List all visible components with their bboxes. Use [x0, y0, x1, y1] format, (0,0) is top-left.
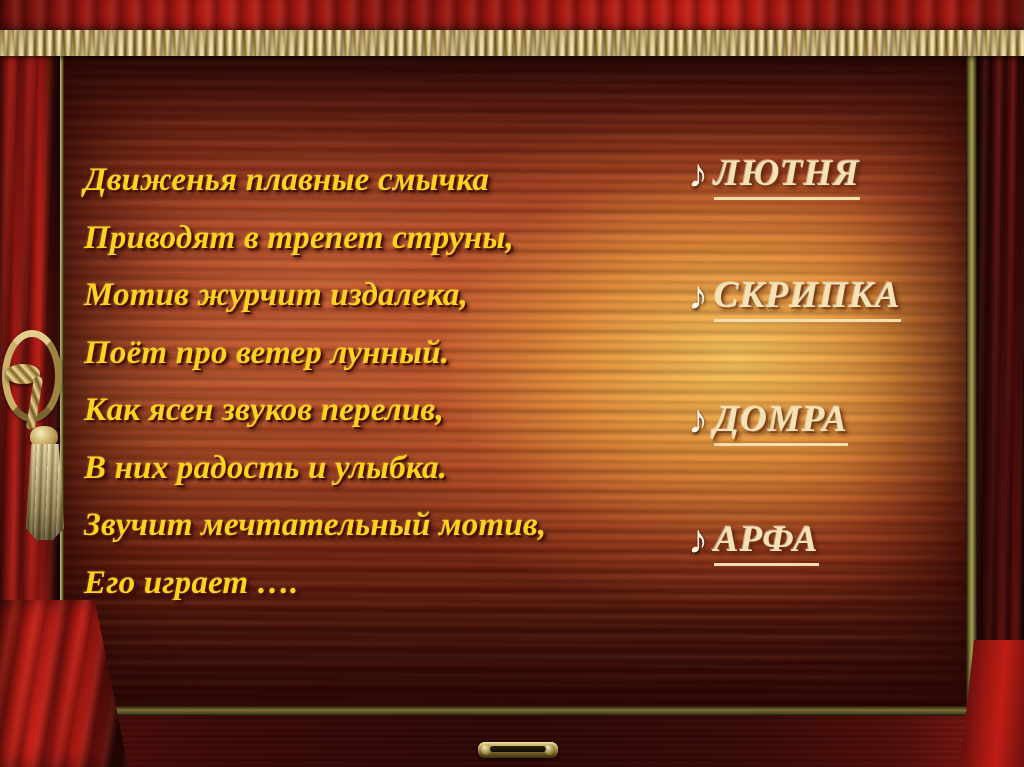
gold-clasp-bar: [490, 746, 546, 752]
answer-label[interactable]: СКРИПКА: [714, 274, 901, 322]
answer-item-lute[interactable]: ♪ ЛЮТНЯ: [688, 152, 860, 200]
poem-line: Движенья плавные смычка: [84, 152, 684, 210]
poem-block: Движенья плавные смычка Приводят в трепе…: [84, 152, 684, 612]
gold-fringe-trim: [0, 30, 1024, 56]
eighth-note-icon: ♪: [688, 520, 708, 560]
answer-label[interactable]: ЛЮТНЯ: [714, 152, 860, 200]
answer-item-violin[interactable]: ♪ СКРИПКА: [688, 274, 901, 322]
gold-rope-tieback: [0, 330, 60, 450]
poem-line: Как ясен звуков перелив,: [84, 382, 684, 440]
poem-line: В них радость и улыбка.: [84, 440, 684, 498]
answer-label[interactable]: АРФА: [714, 518, 819, 566]
eighth-note-icon: ♪: [688, 400, 708, 440]
answer-item-harp[interactable]: ♪ АРФА: [688, 518, 819, 566]
poem-line: Приводят в трепет струны,: [84, 210, 684, 268]
poem-line: Звучит мечтательный мотив,: [84, 497, 684, 555]
tassel-skirt-icon: [26, 444, 64, 540]
eighth-note-icon: ♪: [688, 154, 708, 194]
poem-line: Поёт про ветер лунный.: [84, 325, 684, 383]
poem-line: Мотив журчит издалека,: [84, 267, 684, 325]
answer-label[interactable]: ДОМРА: [714, 398, 848, 446]
poem-line: Его играет ….: [84, 555, 684, 613]
answer-item-domra[interactable]: ♪ ДОМРА: [688, 398, 848, 446]
frame-rail-bottom: [57, 706, 973, 716]
valance: [0, 0, 1024, 33]
slide-stage: Движенья плавные смычка Приводят в трепе…: [0, 0, 1024, 767]
eighth-note-icon: ♪: [688, 276, 708, 316]
frame-rail-right: [966, 46, 977, 718]
